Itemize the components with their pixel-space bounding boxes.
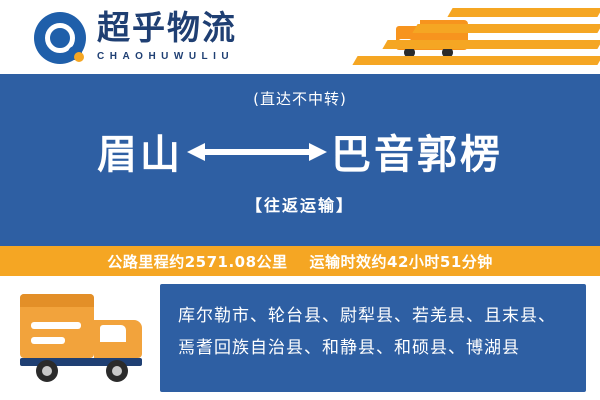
truck-cargo-top — [20, 294, 94, 307]
brand-block: 超乎物流 CHAOHUWULIU — [97, 9, 237, 62]
header-stripes — [350, 0, 600, 74]
brand-name-en: CHAOHUWULIU — [97, 51, 237, 62]
destination-city: 巴音郭楞 — [331, 122, 503, 180]
coverage-section: 库尔勒市、轮台县、尉犁县、若羌县、且末县、焉耆回族自治县、和静县、和硕县、博湖县 — [0, 276, 600, 400]
truck-stripe-2 — [31, 337, 65, 344]
double-arrow-icon — [187, 131, 327, 171]
wheel-hub-right — [112, 366, 122, 376]
logo-dot — [74, 52, 84, 62]
stripe-1 — [447, 8, 600, 17]
coverage-cities-text: 库尔勒市、轮台县、尉犁县、若羌县、且末县、焉耆回族自治县、和静县、和硕县、博湖县 — [178, 300, 570, 364]
stripe-3 — [382, 40, 600, 49]
wheel-hub-left — [42, 366, 52, 376]
truck-wheel-left — [36, 360, 58, 382]
stripe-4 — [352, 56, 600, 65]
arrow-head-right — [309, 143, 327, 161]
header: 超乎物流 CHAOHUWULIU — [0, 0, 600, 74]
circle-c-logo-icon — [34, 12, 86, 64]
brand-name-cn: 超乎物流 — [97, 9, 237, 47]
truck-wheel-right — [106, 360, 128, 382]
route-panel: 眉山 巴音郭楞 (直达不中转) 【往返运输】 — [0, 74, 600, 246]
direct-badge: (直达不中转) — [253, 88, 347, 109]
truck-window-large — [100, 325, 126, 342]
origin-city: 眉山 — [97, 122, 183, 180]
distance-text: 公路里程约2571.08公里 — [107, 251, 287, 272]
stripe-2 — [412, 24, 600, 33]
duration-text: 运输时效约42小时51分钟 — [310, 251, 493, 272]
truck-stripe-1 — [31, 322, 81, 329]
round-trip-badge: 【往返运输】 — [246, 192, 354, 216]
coverage-cities-box: 库尔勒市、轮台县、尉犁县、若羌县、且末县、焉耆回族自治县、和静县、和硕县、博湖县 — [160, 284, 586, 392]
arrow-bar — [195, 149, 313, 155]
poster: 超乎物流 CHAOHUWULIU 眉山 巴音郭楞 — [0, 0, 600, 400]
delivery-box-truck-icon — [20, 294, 154, 386]
info-bar: 公路里程约2571.08公里 运输时效约42小时51分钟 — [0, 246, 600, 276]
route-line: 眉山 巴音郭楞 — [0, 122, 600, 180]
